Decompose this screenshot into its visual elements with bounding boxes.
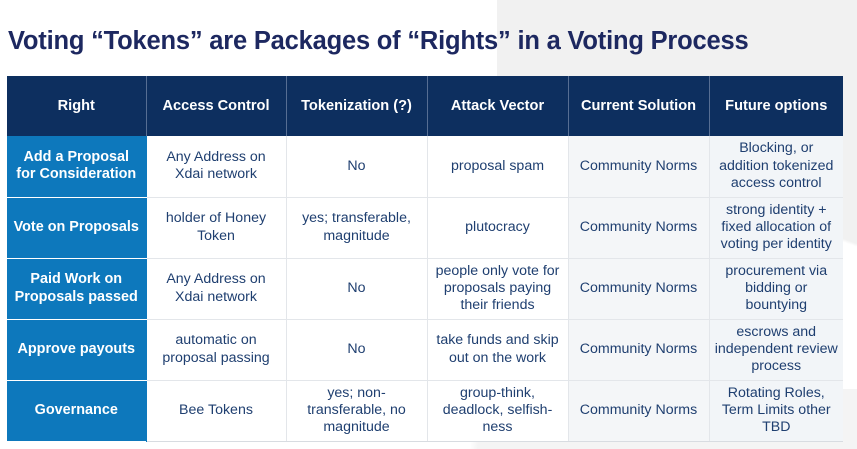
cell-tokenization: yes; transferable, magnitude (286, 197, 427, 258)
column-header-access-control: Access Control (146, 76, 286, 136)
cell-tokenization: yes; non-transferable, no magnitude (286, 380, 427, 441)
cell-attack-vector: group-think, deadlock, selfish-ness (427, 380, 568, 441)
cell-current-solution: Community Norms (568, 136, 709, 197)
cell-attack-vector: take funds and skip out on the work (427, 319, 568, 380)
table-header: Right Access Control Tokenization (?) At… (7, 76, 843, 136)
row-label-paid-work: Paid Work on Proposals passed (7, 258, 146, 319)
cell-future-options: strong identity + fixed allocation of vo… (709, 197, 843, 258)
cell-attack-vector: plutocracy (427, 197, 568, 258)
column-header-attack-vector: Attack Vector (427, 76, 568, 136)
cell-access-control: holder of Honey Token (146, 197, 286, 258)
table-row: Approve payouts automatic on proposal pa… (7, 319, 843, 380)
table-row: Add a Proposal for Consideration Any Add… (7, 136, 843, 197)
cell-access-control: Bee Tokens (146, 380, 286, 441)
cell-current-solution: Community Norms (568, 197, 709, 258)
table-body: Add a Proposal for Consideration Any Add… (7, 136, 843, 441)
row-label-approve-payouts: Approve payouts (7, 319, 146, 380)
table-row: Vote on Proposals holder of Honey Token … (7, 197, 843, 258)
column-header-right: Right (7, 76, 146, 136)
cell-tokenization: No (286, 319, 427, 380)
cell-future-options: Blocking, or addition tokenized access c… (709, 136, 843, 197)
cell-future-options: Rotating Roles, Term Limits other TBD (709, 380, 843, 441)
table-header-row: Right Access Control Tokenization (?) At… (7, 76, 843, 136)
cell-current-solution: Community Norms (568, 319, 709, 380)
cell-attack-vector: people only vote for proposals paying th… (427, 258, 568, 319)
cell-tokenization: No (286, 136, 427, 197)
cell-access-control: Any Address on Xdai network (146, 258, 286, 319)
column-header-current-solution: Current Solution (568, 76, 709, 136)
row-label-governance: Governance (7, 380, 146, 441)
cell-access-control: Any Address on Xdai network (146, 136, 286, 197)
rights-matrix-table: Right Access Control Tokenization (?) At… (7, 76, 843, 442)
row-label-add-a-proposal: Add a Proposal for Consideration (7, 136, 146, 197)
row-label-vote-on-proposals: Vote on Proposals (7, 197, 146, 258)
cell-current-solution: Community Norms (568, 258, 709, 319)
table-row: Governance Bee Tokens yes; non-transfera… (7, 380, 843, 441)
page-title: Voting “Tokens” are Packages of “Rights”… (8, 19, 848, 63)
table-row: Paid Work on Proposals passed Any Addres… (7, 258, 843, 319)
cell-future-options: escrows and independent review process (709, 319, 843, 380)
cell-access-control: automatic on proposal passing (146, 319, 286, 380)
rights-matrix-container: Right Access Control Tokenization (?) At… (7, 76, 843, 442)
cell-attack-vector: proposal spam (427, 136, 568, 197)
cell-current-solution: Community Norms (568, 380, 709, 441)
column-header-future-options: Future options (709, 76, 843, 136)
cell-future-options: procurement via bidding or bountying (709, 258, 843, 319)
column-header-tokenization: Tokenization (?) (286, 76, 427, 136)
cell-tokenization: No (286, 258, 427, 319)
